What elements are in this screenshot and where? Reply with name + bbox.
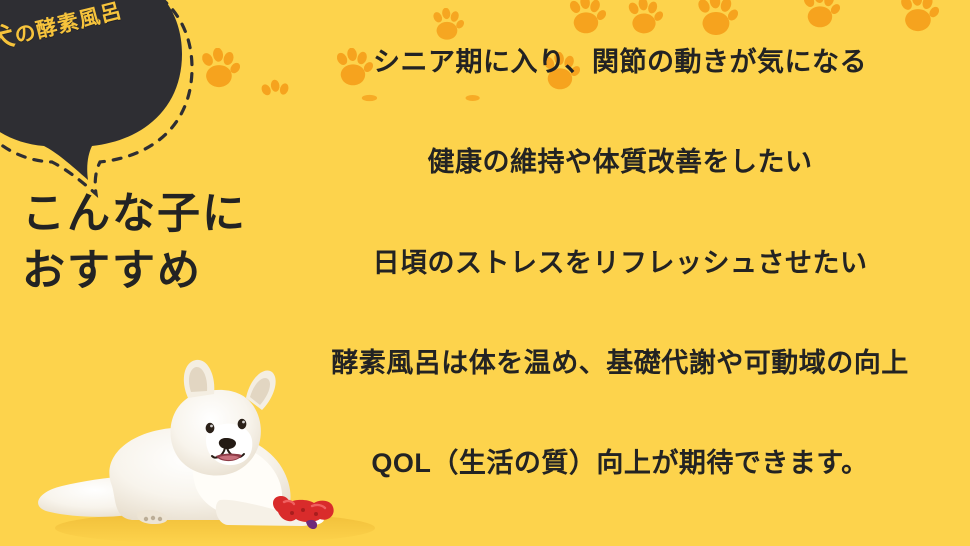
paw-print-icon bbox=[694, 0, 738, 38]
paw-print-icon bbox=[800, 0, 840, 30]
paw-print-icon bbox=[897, 0, 939, 34]
paw-print-icon bbox=[566, 0, 606, 36]
poster-canvas: 犬の酵素風呂 こんな子に おすすめ bbox=[0, 0, 970, 546]
paw-print-icon bbox=[625, 0, 663, 36]
bone-toy bbox=[273, 496, 334, 529]
paw-print-icon bbox=[430, 8, 464, 42]
copy-line: シニア期に入り、関節の動きが気になる bbox=[373, 40, 867, 79]
speech-bubble: 犬の酵素風呂 bbox=[0, 0, 238, 187]
body-copy-list: シニア期に入り、関節の動きが気になる 健康の維持や体質改善をしたい 日頃のストレ… bbox=[280, 40, 960, 480]
copy-line: 酵素風呂は体を温め、基礎代謝や可動域の向上 bbox=[331, 341, 909, 380]
copy-line: QOL（生活の質）向上が期待できます。 bbox=[371, 441, 868, 480]
page-title: こんな子に おすすめ bbox=[22, 186, 247, 300]
copy-line: 日頃のストレスをリフレッシュさせたい bbox=[373, 241, 868, 280]
copy-line: 健康の維持や体質改善をしたい bbox=[428, 140, 813, 179]
